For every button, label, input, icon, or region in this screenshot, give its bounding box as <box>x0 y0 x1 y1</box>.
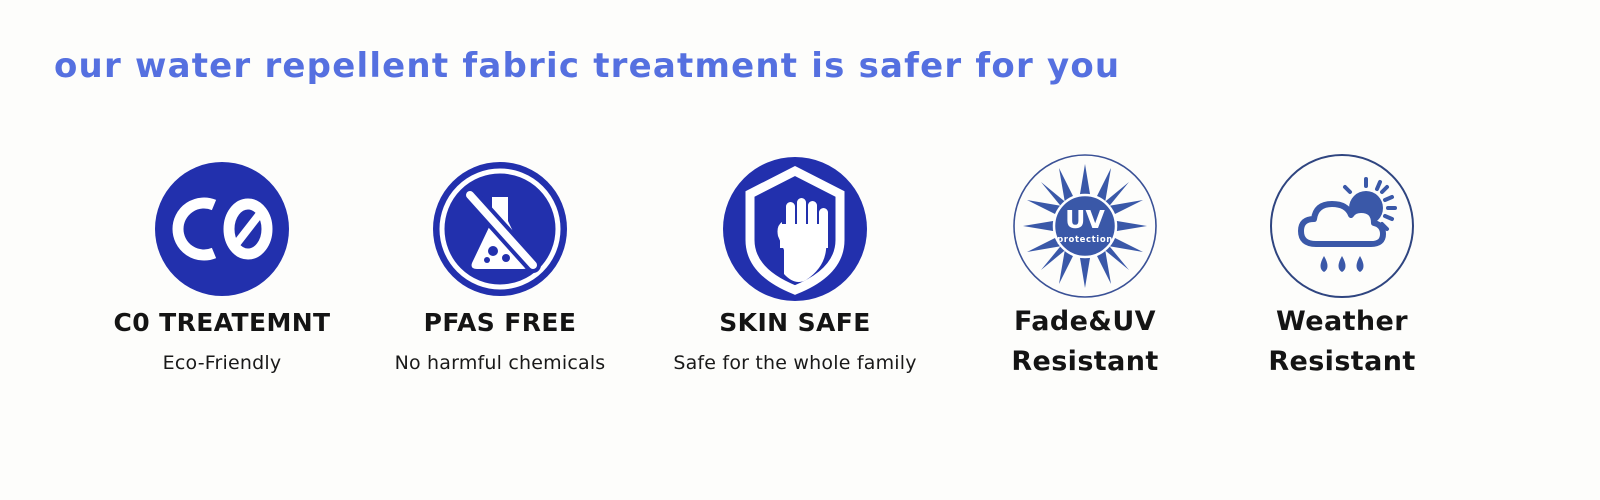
weather-badge <box>1192 150 1492 302</box>
weather-cloud-sun-rain-icon <box>1268 152 1416 300</box>
co-treatment-icon <box>152 159 292 299</box>
uv-icon-subtext: protection <box>1057 235 1113 245</box>
co-treatment-badge <box>72 150 372 308</box>
feature-item-pfas-free: PFAS FREE No harmful chemicals <box>350 150 650 374</box>
shield-hand-icon <box>720 154 870 304</box>
feature-row: C0 TREATEMNT Eco-Friendly PFA <box>0 150 1600 420</box>
feature-title-line2: Resistant <box>935 342 1235 382</box>
feature-title-line1: Weather <box>1192 302 1492 342</box>
feature-title: SKIN SAFE <box>645 308 945 339</box>
feature-title-line1: Fade&UV <box>935 302 1235 342</box>
feature-subtitle: Eco-Friendly <box>72 352 372 374</box>
uv-sunburst-icon: UV protection <box>1011 152 1159 300</box>
feature-item-weather: Weather Resistant <box>1192 150 1492 382</box>
skin-safe-badge <box>645 150 945 308</box>
uv-icon-text: UV <box>1065 205 1105 234</box>
page-headline: our water repellent fabric treatment is … <box>54 46 1120 87</box>
feature-title: C0 TREATEMNT <box>72 308 372 339</box>
feature-item-co-treatment: C0 TREATEMNT Eco-Friendly <box>72 150 372 374</box>
feature-title: PFAS FREE <box>350 308 650 339</box>
feature-title-line2: Resistant <box>1192 342 1492 382</box>
feature-item-fade-uv: UV protection Fade&UV Resistant <box>935 150 1235 382</box>
no-chemicals-flask-icon <box>430 159 570 299</box>
feature-item-skin-safe: SKIN SAFE Safe for the whole family <box>645 150 945 374</box>
feature-subtitle: Safe for the whole family <box>645 352 945 374</box>
feature-subtitle: No harmful chemicals <box>350 352 650 374</box>
fade-uv-badge: UV protection <box>935 150 1235 302</box>
pfas-free-badge <box>350 150 650 308</box>
